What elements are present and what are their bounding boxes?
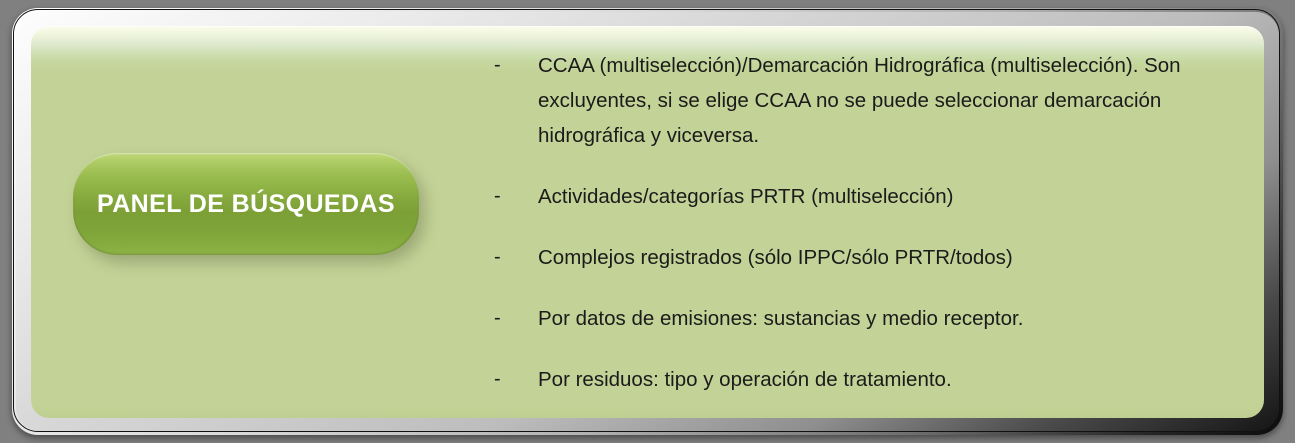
- list-item-label: Complejos registrados (sólo IPPC/sólo PR…: [538, 240, 1234, 275]
- dash-marker-icon: -: [494, 48, 538, 83]
- list-item-label: CCAA (multiselección)/Demarcación Hidrog…: [538, 48, 1234, 153]
- dash-marker-icon: -: [494, 301, 538, 336]
- list-item-label: Actividades/categorías PRTR (multiselecc…: [538, 179, 1234, 214]
- list-item: - Actividades/categorías PRTR (multisele…: [494, 179, 1234, 214]
- button-face[interactable]: PANEL DE BÚSQUEDAS: [73, 153, 419, 255]
- list-item: - Complejos registrados (sólo IPPC/sólo …: [494, 240, 1234, 275]
- list-item-label: Por datos de emisiones: sustancias y med…: [538, 301, 1234, 336]
- dash-marker-icon: -: [494, 362, 538, 397]
- list-item-label: Por residuos: tipo y operación de tratam…: [538, 362, 1234, 397]
- panel-de-busquedas-button[interactable]: PANEL DE BÚSQUEDAS: [73, 153, 419, 255]
- content-panel: PANEL DE BÚSQUEDAS - CCAA (multiselecció…: [31, 26, 1264, 418]
- dash-marker-icon: -: [494, 179, 538, 214]
- feature-list: - CCAA (multiselección)/Demarcación Hidr…: [494, 48, 1234, 397]
- list-item: - CCAA (multiselección)/Demarcación Hidr…: [494, 48, 1234, 153]
- dash-marker-icon: -: [494, 240, 538, 275]
- button-label: PANEL DE BÚSQUEDAS: [97, 190, 395, 219]
- list-item: - Por residuos: tipo y operación de trat…: [494, 362, 1234, 397]
- list-item: - Por datos de emisiones: sustancias y m…: [494, 301, 1234, 336]
- slide-canvas: PANEL DE BÚSQUEDAS - CCAA (multiselecció…: [0, 0, 1295, 443]
